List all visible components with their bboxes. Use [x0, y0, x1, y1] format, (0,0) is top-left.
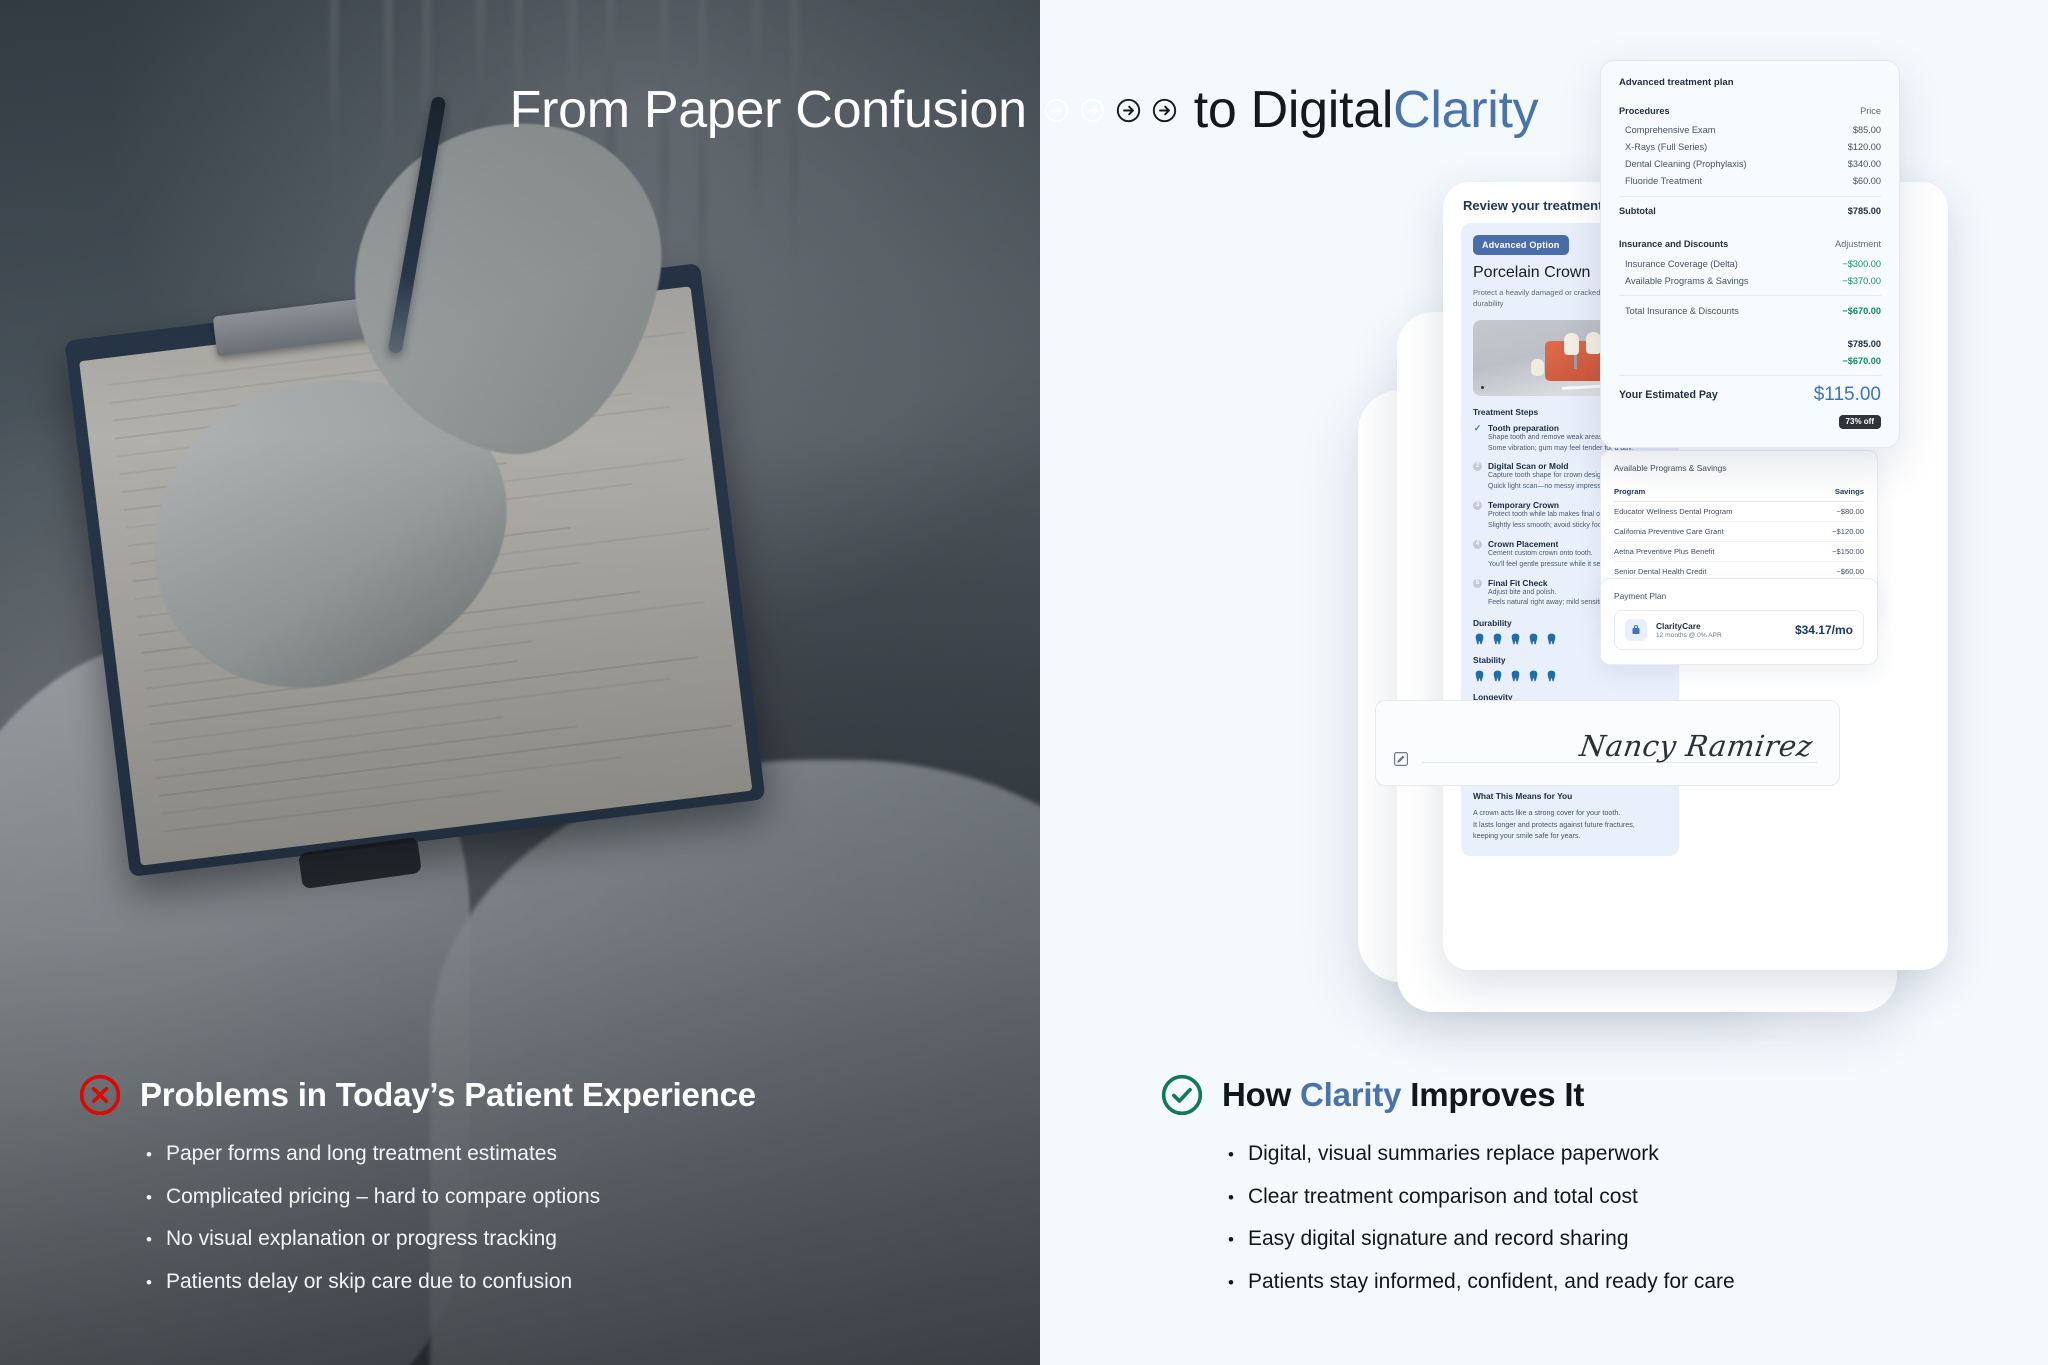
procedure-price: $120.00 [1848, 142, 1881, 152]
advanced-option-badge: Advanced Option [1473, 235, 1569, 255]
check-circle-icon [1160, 1073, 1204, 1117]
means-line-1: A crown acts like a strong cover for you… [1473, 807, 1667, 819]
procedure-name: Dental Cleaning (Prophylaxis) [1619, 159, 1747, 169]
col-adjustment: Adjustment [1835, 239, 1881, 249]
program-savings: −$120.00 [1832, 527, 1864, 536]
problems-section: Problems in Today’s Patient Experience •… [78, 1073, 978, 1309]
payment-plan-terms: 12 months @ 0% APR [1656, 632, 1722, 639]
lock-bag-icon [1625, 619, 1647, 641]
bullet-dot: • [1228, 1186, 1234, 1211]
subtotal-row: Subtotal $785.00 [1619, 203, 1881, 220]
insurance-total-value: −$670.00 [1842, 306, 1881, 316]
benefits-title-a: How [1222, 1076, 1300, 1113]
recap-gross-value: $785.00 [1848, 339, 1881, 349]
payment-plan-option[interactable]: ClarityCare 12 months @ 0% APR $34.17/mo [1614, 610, 1864, 650]
payment-plan-card: Payment Plan ClarityCare 12 months @ 0% … [1600, 578, 1878, 665]
col-procedures: Procedures [1619, 106, 1670, 116]
step-marker: 3 [1473, 501, 1482, 510]
program-row: Aetna Preventive Plus Benefit−$150.00 [1614, 542, 1864, 562]
procedure-row: Fluoride Treatment$60.00 [1619, 173, 1881, 190]
signature-pen-icon [1392, 750, 1410, 768]
bullet-text: Digital, visual summaries replace paperw… [1248, 1139, 1659, 1169]
benefits-bullet-list: •Digital, visual summaries replace paper… [1160, 1139, 2000, 1297]
problems-bullet-list: •Paper forms and long treatment estimate… [78, 1139, 978, 1297]
benefit-bullet: •Easy digital signature and record shari… [1228, 1224, 2000, 1254]
payment-plan-name: ClarityCare [1656, 621, 1722, 631]
program-name: Senior Dental Health Credit [1614, 567, 1706, 576]
procedure-price: $340.00 [1848, 159, 1881, 169]
program-savings: −$150.00 [1832, 547, 1864, 556]
program-row: Educator Wellness Dental Program−$80.00 [1614, 502, 1864, 522]
insurance-name: Available Programs & Savings [1619, 276, 1748, 286]
means-line-3: keeping your smile safe for years. [1473, 830, 1667, 842]
program-savings: −$60.00 [1836, 567, 1864, 576]
bullet-dot: • [146, 1228, 152, 1253]
program-name: Aetna Preventive Plus Benefit [1614, 547, 1714, 556]
procedure-row: X-Rays (Full Series)$120.00 [1619, 139, 1881, 156]
problem-bullet: •Complicated pricing – hard to compare o… [146, 1182, 978, 1212]
bullet-dot: • [146, 1143, 152, 1168]
benefits-title-accent: Clarity [1300, 1076, 1401, 1113]
insurance-header-row: Insurance and Discounts Adjustment [1619, 236, 1881, 256]
procedure-name: X-Rays (Full Series) [1619, 142, 1707, 152]
step-marker: 4 [1473, 540, 1482, 549]
insurance-rows: Insurance Coverage (Delta)−$300.00Availa… [1619, 255, 1881, 289]
bullet-text: Patients delay or skip care due to confu… [166, 1267, 572, 1297]
problem-bullet: •Patients delay or skip care due to conf… [146, 1267, 978, 1297]
programs-rows: Educator Wellness Dental Program−$80.00C… [1614, 502, 1864, 582]
step-marker: 5 [1473, 579, 1482, 588]
bullet-dot: • [1228, 1271, 1234, 1296]
benefits-title: How Clarity Improves It [1222, 1076, 1584, 1114]
stability-rating [1473, 669, 1667, 683]
insurance-adjustment: −$300.00 [1842, 259, 1881, 269]
tooth-icon [1527, 669, 1540, 683]
estimated-pay-row: Your Estimated Pay $115.00 [1619, 384, 1881, 406]
signature-field[interactable]: Nancy Ramirez [1375, 700, 1840, 786]
estimated-pay-label: Your Estimated Pay [1619, 389, 1718, 401]
tooth-icon [1491, 632, 1504, 646]
bullet-text: Paper forms and long treatment estimates [166, 1139, 557, 1169]
programs-card-title: Available Programs & Savings [1614, 463, 1864, 473]
step-marker: ✓ [1473, 424, 1482, 433]
tooth-icon [1527, 632, 1540, 646]
subtotal-label: Subtotal [1619, 206, 1656, 216]
procedure-price: $60.00 [1853, 176, 1881, 186]
program-savings: −$80.00 [1836, 507, 1864, 516]
procedure-name: Fluoride Treatment [1619, 176, 1702, 186]
procedure-price: $85.00 [1853, 125, 1881, 135]
benefit-bullet: •Clear treatment comparison and total co… [1228, 1182, 2000, 1212]
benefit-bullet: •Digital, visual summaries replace paper… [1228, 1139, 2000, 1169]
bullet-text: Complicated pricing – hard to compare op… [166, 1182, 600, 1212]
recap-discount-value: −$670.00 [1842, 356, 1881, 366]
subtotal-value: $785.00 [1848, 206, 1881, 216]
signature-name: Nancy Ramirez [1578, 729, 1815, 763]
bullet-dot: • [1228, 1143, 1234, 1168]
benefits-title-b: Improves It [1401, 1076, 1584, 1113]
problems-title: Problems in Today’s Patient Experience [140, 1076, 756, 1114]
col-insurance: Insurance and Discounts [1619, 239, 1728, 249]
bullet-dot: • [146, 1271, 152, 1296]
benefits-section: How Clarity Improves It •Digital, visual… [1160, 1073, 2000, 1309]
problem-bullet: •Paper forms and long treatment estimate… [146, 1139, 978, 1169]
slide-stage: From Paper Confusion to Digital Clarity … [0, 0, 2048, 1365]
col-program: Program [1614, 487, 1645, 496]
bullet-text: No visual explanation or progress tracki… [166, 1224, 557, 1254]
col-price: Price [1860, 106, 1881, 116]
procedure-name: Comprehensive Exam [1619, 125, 1715, 135]
procedures-rows: Comprehensive Exam$85.00X-Rays (Full Ser… [1619, 122, 1881, 190]
estimated-pay-value: $115.00 [1814, 384, 1881, 406]
tooth-icon [1491, 669, 1504, 683]
recap-discount-row: −$670.00 [1619, 352, 1881, 369]
insurance-row: Insurance Coverage (Delta)−$300.00 [1619, 255, 1881, 272]
discount-badge: 73% off [1839, 415, 1881, 429]
program-row: California Preventive Care Grant−$120.00 [1614, 522, 1864, 542]
programs-header-row: Program Savings [1614, 482, 1864, 502]
treatment-plan-price-card: Advanced treatment plan Procedures Price… [1600, 60, 1900, 448]
tooth-icon [1545, 669, 1558, 683]
error-circle-icon [78, 1073, 122, 1117]
device-mockup: Review your treatment Advanced Option Po… [1355, 60, 2015, 1060]
payment-plan-title: Payment Plan [1614, 591, 1864, 601]
insurance-row: Available Programs & Savings−$370.00 [1619, 272, 1881, 289]
problem-bullet: •No visual explanation or progress track… [146, 1224, 978, 1254]
bullet-text: Easy digital signature and record sharin… [1248, 1224, 1629, 1254]
tooth-icon [1545, 632, 1558, 646]
procedure-row: Dental Cleaning (Prophylaxis)$340.00 [1619, 156, 1881, 173]
step-marker: 2 [1473, 462, 1482, 471]
procedures-header-row: Procedures Price [1619, 102, 1881, 122]
benefit-bullet: •Patients stay informed, confident, and … [1228, 1267, 2000, 1297]
procedure-row: Comprehensive Exam$85.00 [1619, 122, 1881, 139]
program-name: Educator Wellness Dental Program [1614, 507, 1732, 516]
tooth-icon [1509, 669, 1522, 683]
means-heading: What This Means for You [1473, 791, 1667, 801]
insurance-adjustment: −$370.00 [1842, 276, 1881, 286]
means-line-2: It lasts longer and protects against fut… [1473, 819, 1667, 831]
bullet-dot: • [146, 1186, 152, 1211]
insurance-name: Insurance Coverage (Delta) [1619, 259, 1738, 269]
program-name: California Preventive Care Grant [1614, 527, 1724, 536]
col-savings: Savings [1835, 487, 1864, 496]
tooth-icon [1473, 632, 1486, 646]
tooth-icon [1509, 632, 1522, 646]
bullet-text: Clear treatment comparison and total cos… [1248, 1182, 1638, 1212]
insurance-total-label: Total Insurance & Discounts [1619, 306, 1739, 316]
bullet-text: Patients stay informed, confident, and r… [1248, 1267, 1735, 1297]
insurance-total-row: Total Insurance & Discounts −$670.00 [1619, 302, 1881, 319]
tooth-icon [1473, 669, 1486, 683]
bullet-dot: • [1228, 1228, 1234, 1253]
payment-plan-amount: $34.17/mo [1795, 623, 1853, 637]
recap-gross-row: $785.00 [1619, 335, 1881, 352]
price-card-title: Advanced treatment plan [1619, 77, 1881, 88]
